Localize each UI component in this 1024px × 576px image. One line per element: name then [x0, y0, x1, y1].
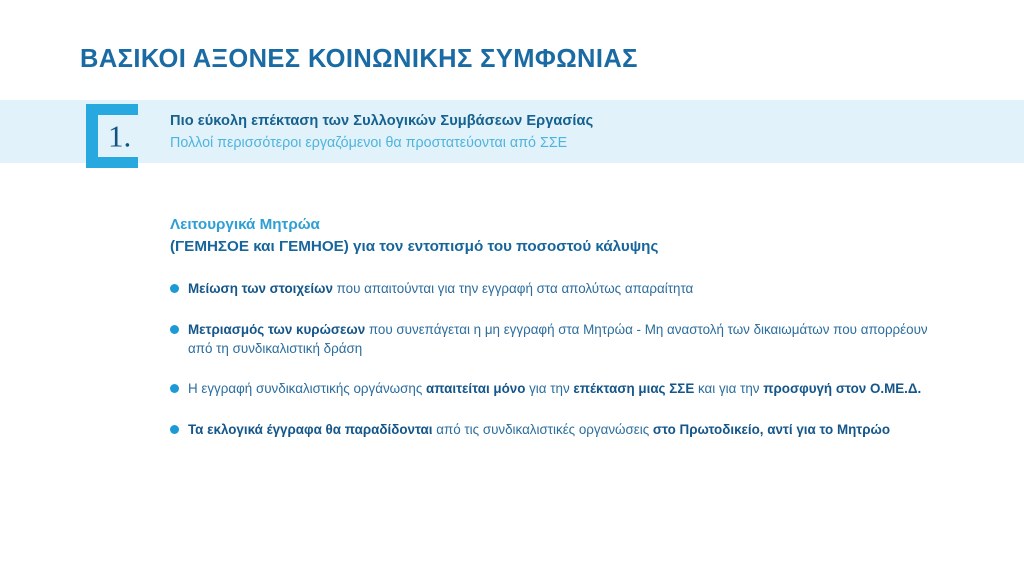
section-heading-line-2: (ΓΕΜΗΣΟΕ και ΓΕΜΗΟΕ) για τον εντοπισμό τ…	[170, 236, 930, 258]
banner-heading: Πιο εύκολη επέκταση των Συλλογικών Συμβά…	[170, 112, 593, 131]
bullet-text-emphasis: Μείωση των στοιχείων	[188, 281, 333, 296]
bracket-top-icon	[86, 104, 138, 115]
bullet-text: που απαιτούνται για την εγγραφή στα απολ…	[333, 281, 693, 296]
list-item: Τα εκλογικά έγγραφα θα παραδίδονται από …	[170, 420, 930, 439]
list-item: Η εγγραφή συνδικαλιστικής οργάνωσης απαι…	[170, 379, 930, 398]
step-number-badge: 1.	[86, 104, 155, 168]
list-item: Μείωση των στοιχείων που απαιτούνται για…	[170, 279, 930, 298]
bullet-text: και για την	[694, 381, 763, 396]
bullet-text-emphasis: επέκταση μιας ΣΣΕ	[573, 381, 694, 396]
bullet-dot-icon	[170, 284, 179, 293]
slide-canvas: ΒΑΣΙΚΟΙ ΑΞΟΝΕΣ ΚΟΙΝΩΝΙΚΗΣ ΣΥΜΦΩΝΙΑΣ 1. Π…	[0, 0, 1024, 576]
bullet-text: για την	[525, 381, 573, 396]
bullet-text-emphasis: στο Πρωτοδικείο, αντί για το Μητρώο	[653, 422, 890, 437]
bullet-text-emphasis: προσφυγή στον Ο.ΜΕ.Δ.	[763, 381, 921, 396]
bracket-bottom-icon	[86, 157, 138, 168]
bullet-dot-icon	[170, 325, 179, 334]
list-item: Μετριασμός των κυρώσεων που συνεπάγεται …	[170, 320, 930, 359]
banner-subheading: Πολλοί περισσότεροι εργαζόμενοι θα προστ…	[170, 134, 593, 153]
body-content: Λειτουργικά Μητρώα (ΓΕΜΗΣΟΕ και ΓΕΜΗΟΕ) …	[170, 214, 930, 439]
bullet-text-emphasis: Τα εκλογικά έγγραφα θα παραδίδονται	[188, 422, 433, 437]
bullet-text: Η εγγραφή συνδικαλιστικής οργάνωσης	[188, 381, 426, 396]
section-heading-line-1: Λειτουργικά Μητρώα	[170, 214, 930, 236]
bullet-text-emphasis: απαιτείται μόνο	[426, 381, 525, 396]
bullet-dot-icon	[170, 425, 179, 434]
bullet-text: από τις συνδικαλιστικές οργανώσεις	[433, 422, 653, 437]
bullet-dot-icon	[170, 384, 179, 393]
page-title: ΒΑΣΙΚΟΙ ΑΞΟΝΕΣ ΚΟΙΝΩΝΙΚΗΣ ΣΥΜΦΩΝΙΑΣ	[80, 45, 638, 74]
banner-text-group: Πιο εύκολη επέκταση των Συλλογικών Συμβά…	[170, 112, 593, 153]
step-number-label: 1.	[108, 121, 131, 152]
bullet-list: Μείωση των στοιχείων που απαιτούνται για…	[170, 279, 930, 439]
bullet-text-emphasis: Μετριασμός των κυρώσεων	[188, 322, 365, 337]
